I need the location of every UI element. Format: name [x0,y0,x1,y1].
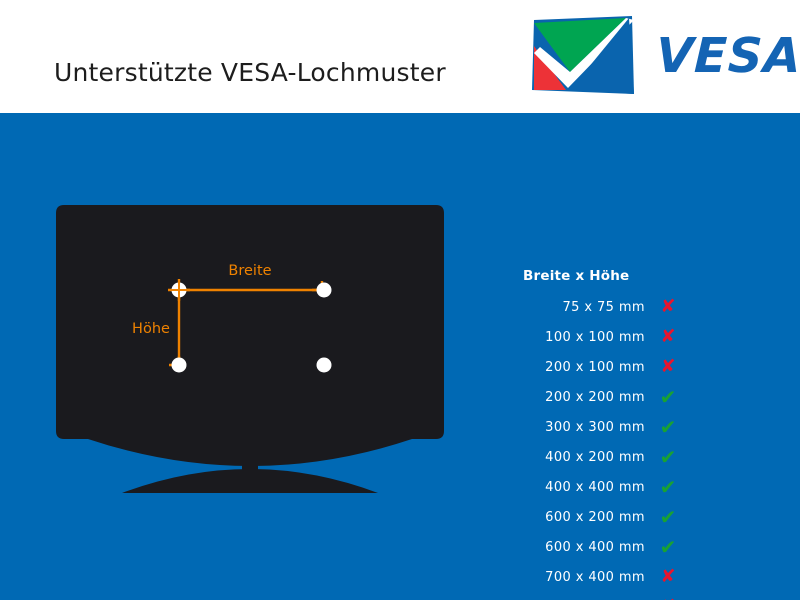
vesa-size-label: 600 x 400 mm [505,540,645,555]
hoehe-label: Höhe [132,321,170,337]
content-panel: Breite Höhe Rückseite TV-Gerät Breite x … [0,113,800,600]
vesa-size-label: 300 x 300 mm [505,420,645,435]
supported-check-icon: ✔ [645,417,691,437]
table-row: 400 x 400 mm✔ [505,472,700,502]
tv-stand-base [122,469,378,493]
table-row: 200 x 100 mm✘ [505,352,700,382]
vesa-size-table: Breite x Höhe 75 x 75 mm✘100 x 100 mm✘20… [505,268,700,600]
not-supported-cross-icon: ✘ [645,568,691,586]
tv-back-diagram: Breite Höhe [40,193,460,523]
supported-check-icon: ✔ [645,387,691,407]
vesa-size-label: 75 x 75 mm [505,300,645,315]
vesa-wordmark: VESA [655,30,800,82]
supported-check-icon: ✔ [645,447,691,467]
table-row: 400 x 200 mm✔ [505,442,700,472]
header-bar: Unterstützte VESA-Lochmuster VESA [0,0,800,113]
table-row: 100 x 100 mm✘ [505,322,700,352]
vesa-size-label: 100 x 100 mm [505,330,645,345]
table-row: 700 x 400 mm✘ [505,562,700,592]
not-supported-cross-icon: ✘ [645,328,691,346]
tv-body-shape [56,205,444,466]
table-row: 300 x 300 mm✔ [505,412,700,442]
vesa-size-label: 200 x 200 mm [505,390,645,405]
vesa-mounting-pattern-infographic: Unterstützte VESA-Lochmuster VESA [0,0,800,600]
table-row: 600 x 400 mm✔ [505,532,700,562]
not-supported-cross-icon: ✘ [645,298,691,316]
mounting-hole-top-right [317,283,332,298]
supported-check-icon: ✔ [645,537,691,557]
mounting-hole-bottom-left [172,358,187,373]
vesa-size-label: 400 x 200 mm [505,450,645,465]
vesa-checkmark-logo-icon [530,16,636,98]
vesa-size-label: 600 x 200 mm [505,510,645,525]
vesa-logo: VESA [530,16,788,98]
breite-label: Breite [228,263,271,279]
not-supported-cross-icon: ✘ [645,358,691,376]
supported-check-icon: ✔ [645,477,691,497]
mounting-hole-bottom-right [317,358,332,373]
table-body: 75 x 75 mm✘100 x 100 mm✘200 x 100 mm✘200… [505,292,700,600]
vesa-size-label: 400 x 400 mm [505,480,645,495]
table-row: 200 x 200 mm✔ [505,382,700,412]
vesa-size-label: 700 x 400 mm [505,570,645,585]
table-row: 600 x 200 mm✔ [505,502,700,532]
supported-check-icon: ✔ [645,507,691,527]
table-row: 800 x 400 mm✘ [505,592,700,600]
page-title: Unterstützte VESA-Lochmuster [54,58,446,87]
table-header-breite-x-hoehe: Breite x Höhe [505,268,700,292]
table-row: 75 x 75 mm✘ [505,292,700,322]
vesa-size-label: 200 x 100 mm [505,360,645,375]
